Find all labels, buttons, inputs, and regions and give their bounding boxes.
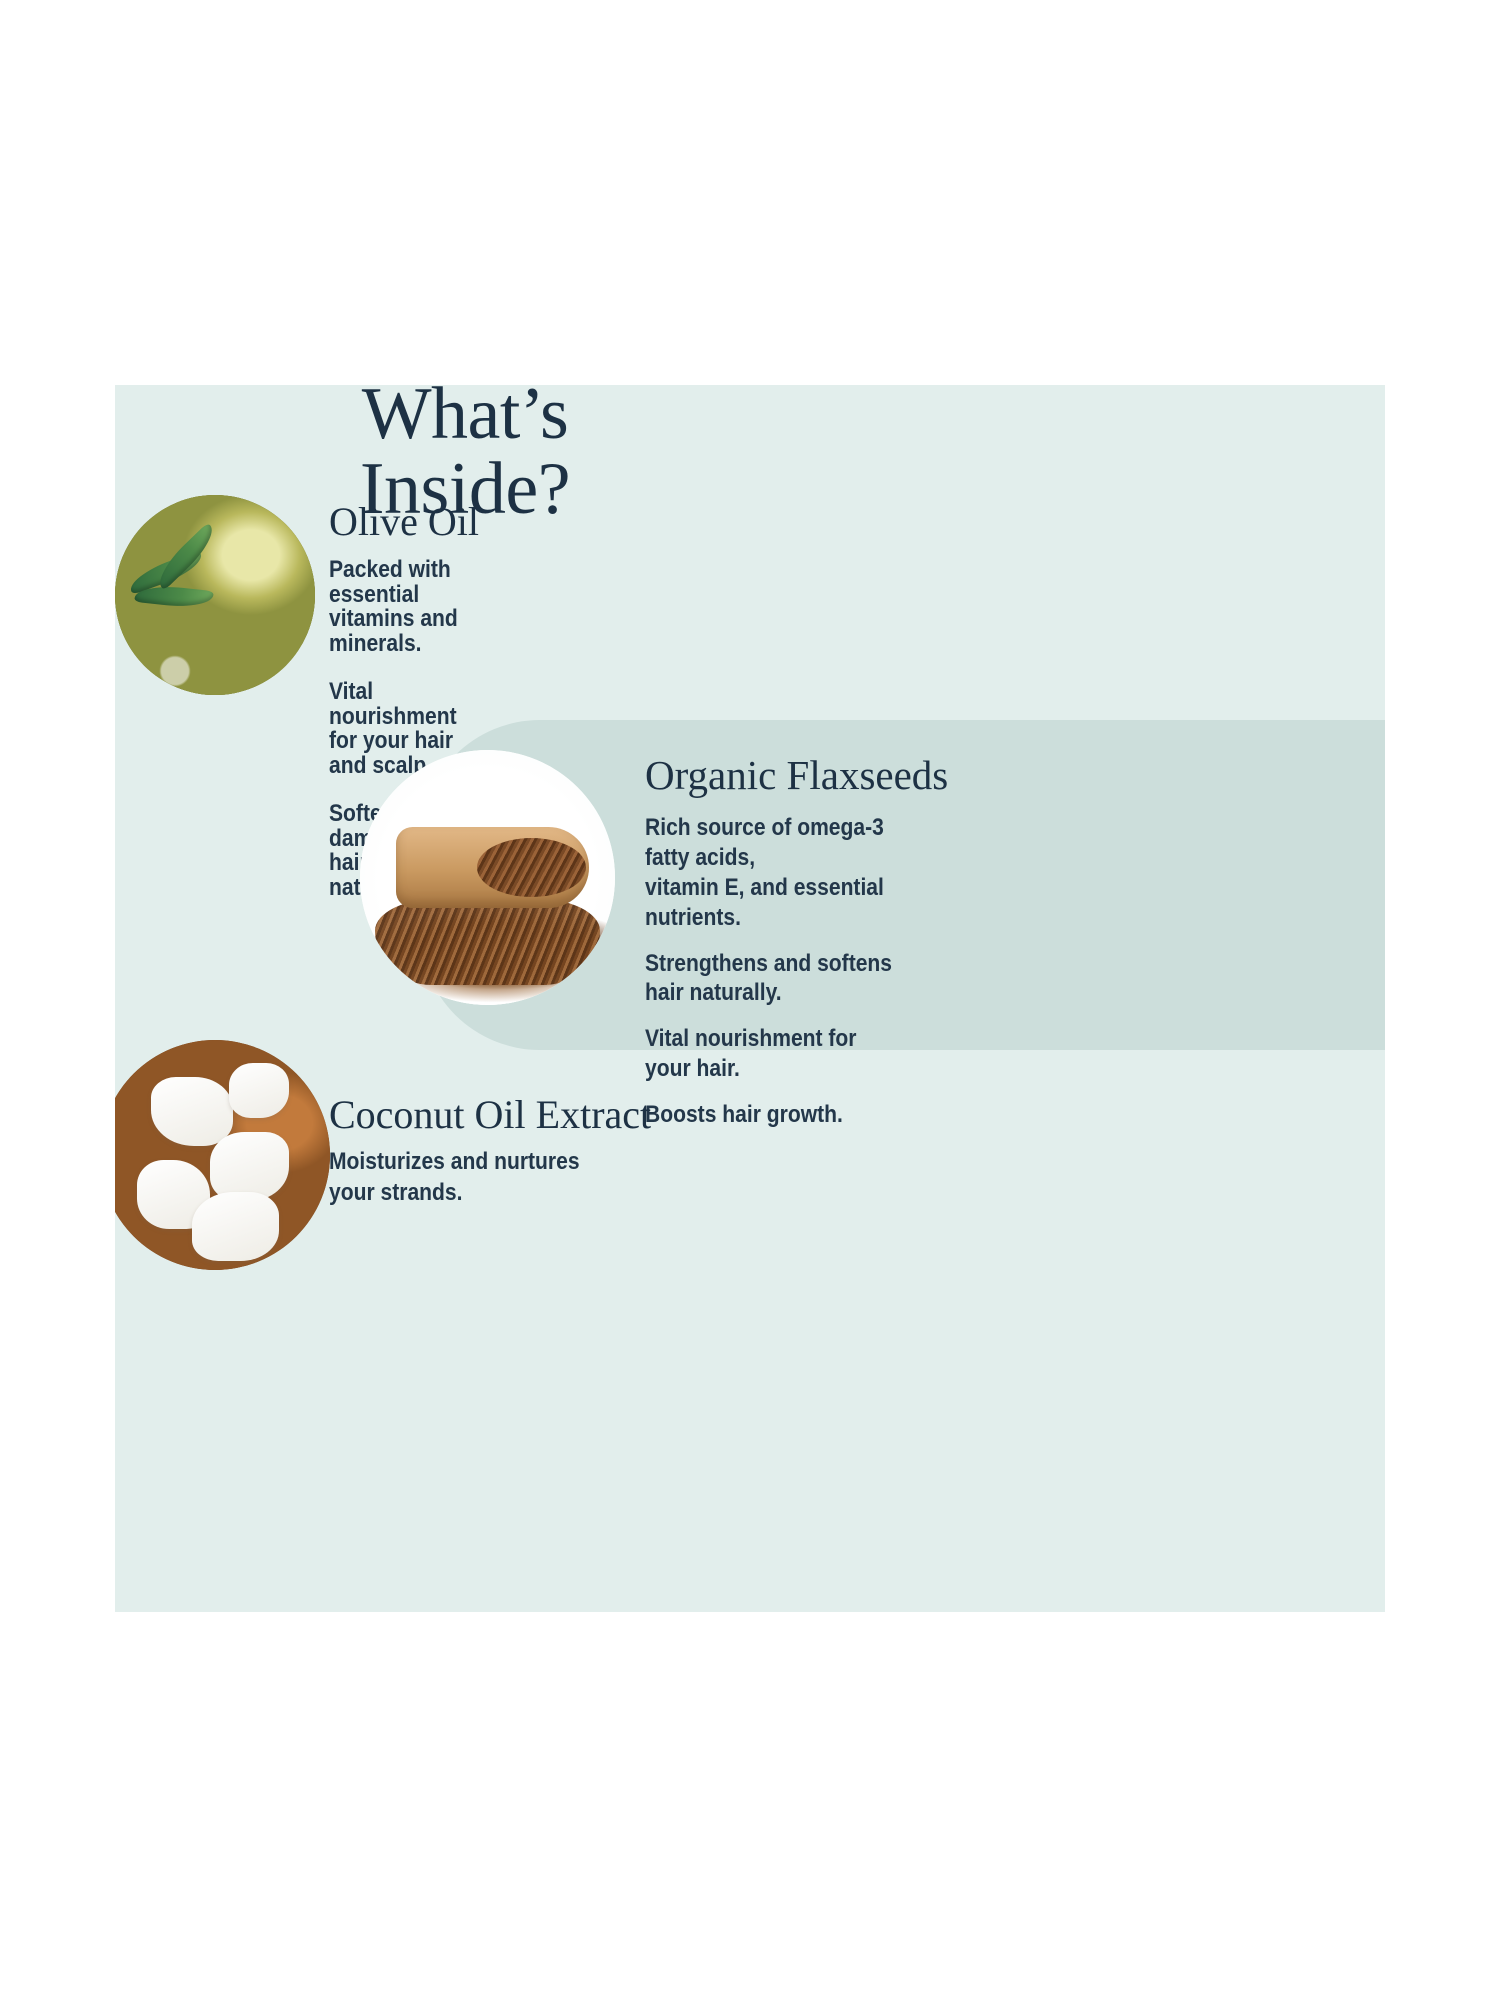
coconut-oil-photo [115,1040,330,1270]
benefit-item: Boosts hair growth. [645,1100,906,1130]
benefit-item: Vital nourishment for your hair. [645,1024,906,1084]
coconut-text-block: Coconut Oil Extract Moisturizes and nurt… [329,1095,651,1209]
flaxseeds-text-block: Organic Flaxseeds Rich source of omega-3… [645,755,948,1146]
wooden-scoop-icon [396,827,590,909]
benefit-item: Strengthens and softens hair naturally. [645,949,906,1009]
flaxseeds-photo [360,750,615,1005]
coconut-benefit-list: Moisturizes and nurtures your strands. [329,1146,651,1209]
benefit-item: Rich source of omega-3 fatty acids, vita… [645,813,906,933]
coconut-oil-image [115,1040,330,1270]
benefit-item: Moisturizes and nurtures your strands. [329,1146,606,1209]
benefit-item: Packed with essential vitamins and miner… [329,558,458,656]
olive-oil-image [115,495,315,695]
flaxseeds-benefit-list: Rich source of omega-3 fatty acids, vita… [645,813,948,1130]
flaxseed-pile [375,898,599,985]
ingredient-name-organic-flaxseeds: Organic Flaxseeds [645,755,948,796]
coconut-chunk [229,1063,289,1118]
coconut-chunk [151,1077,234,1146]
olive-oil-photo [115,495,315,695]
coconut-chunk [210,1132,288,1201]
ingredient-name-olive-oil: Olive Oil [329,502,479,542]
coconut-chunk [192,1192,279,1261]
ingredient-name-coconut-oil-extract: Coconut Oil Extract [329,1095,651,1135]
olive-leaf-icon [151,523,220,591]
page-title-line-1: What’s [115,385,815,452]
flaxseeds-image [360,750,615,1005]
ingredients-card: What’s Inside? Olive Oil Packed with ess… [115,385,1385,1612]
